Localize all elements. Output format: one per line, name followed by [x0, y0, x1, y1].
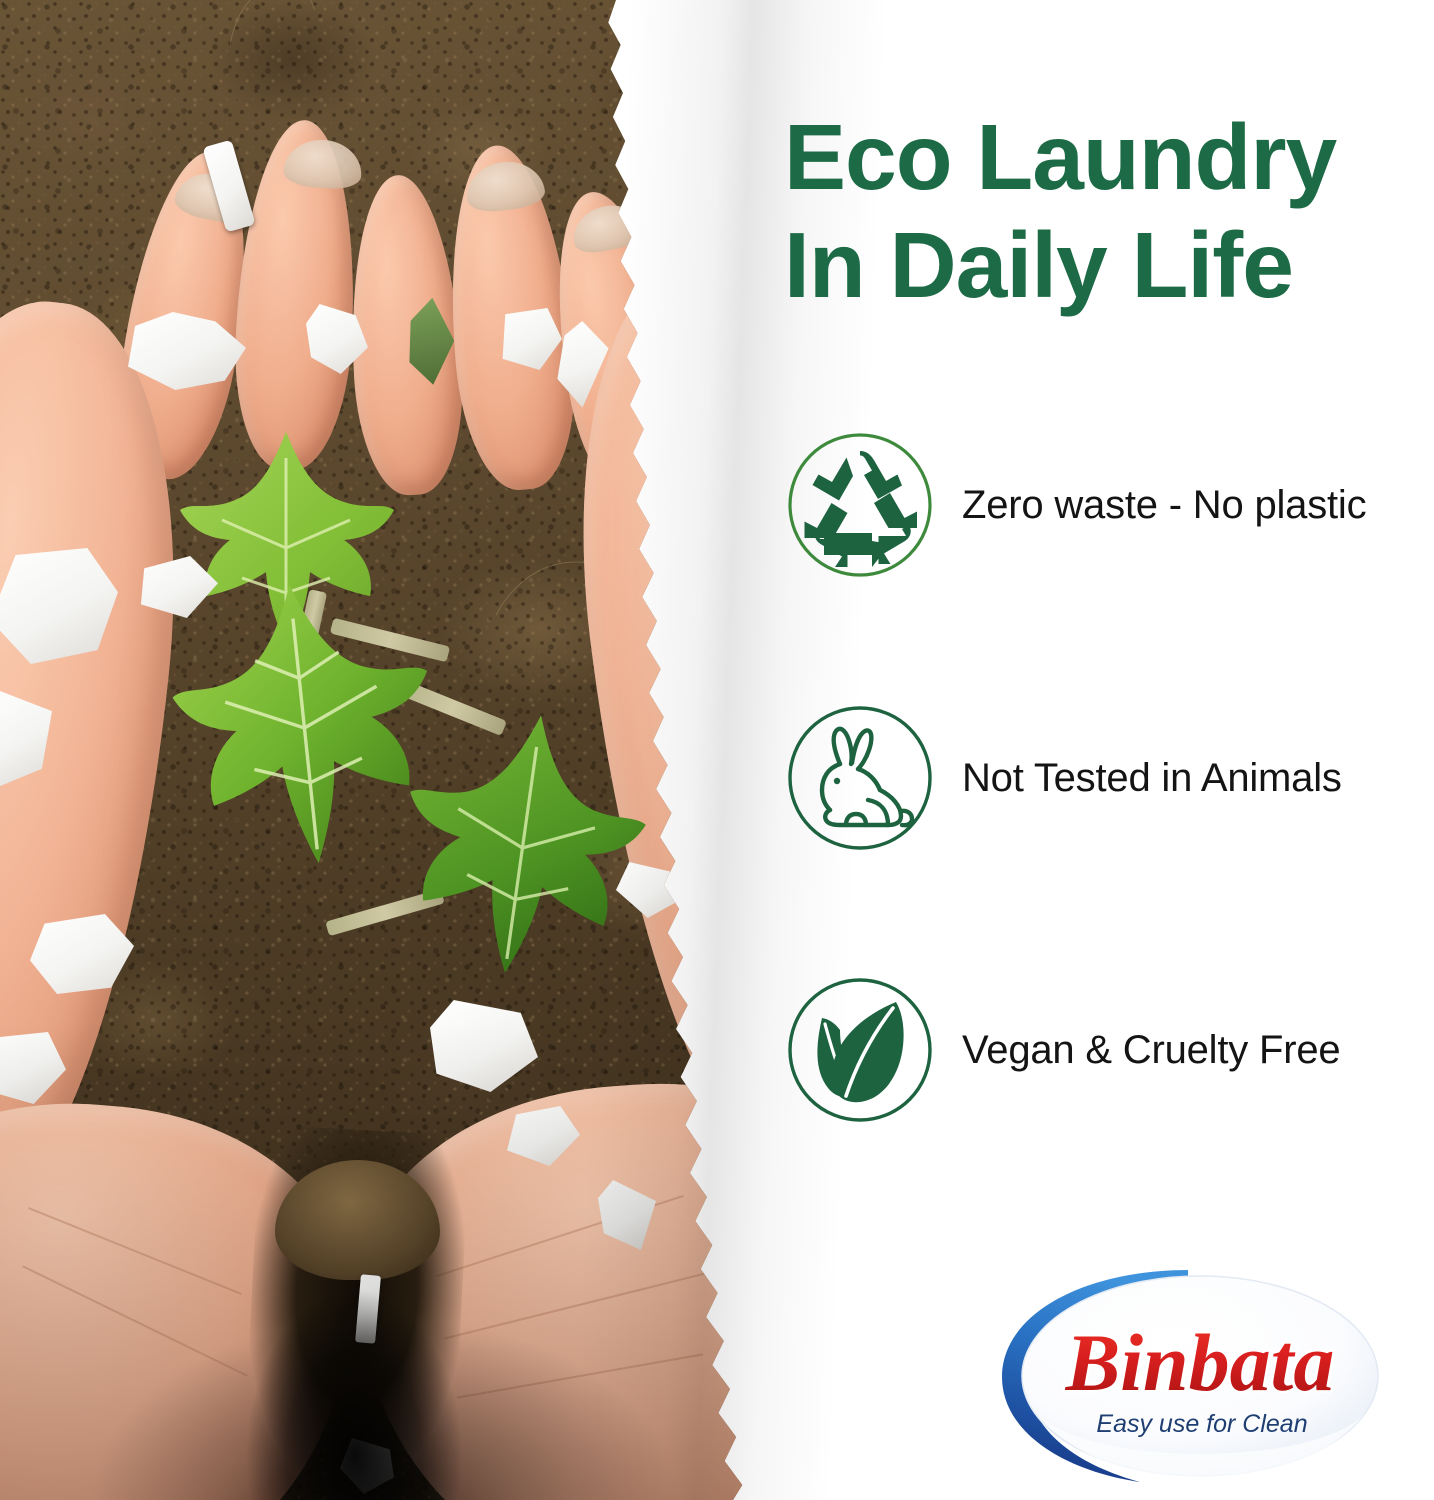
feature-label: Zero waste - No plastic — [962, 483, 1366, 528]
leaf-icon — [784, 974, 936, 1126]
feature-row-zero-waste: Zero waste - No plastic — [784, 425, 1432, 585]
page-title: Eco Laundry In Daily Life — [784, 104, 1424, 320]
feature-label: Vegan & Cruelty Free — [962, 1028, 1340, 1073]
feature-row-not-tested: Not Tested in Animals — [784, 698, 1432, 858]
binbata-logo: Binbata Easy use for Clean — [988, 1262, 1408, 1492]
hands-soil-photo — [0, 0, 770, 1500]
content-panel: Eco Laundry In Daily Life — [770, 0, 1434, 1500]
feature-label: Not Tested in Animals — [962, 756, 1342, 801]
logo-brand-text: Binbata — [1065, 1317, 1335, 1408]
photo-vignette — [0, 0, 770, 1500]
logo-tagline-text: Easy use for Clean — [1096, 1410, 1307, 1438]
recycle-icon — [784, 429, 936, 581]
feature-row-vegan: Vegan & Cruelty Free — [784, 970, 1432, 1130]
rabbit-icon — [784, 702, 936, 854]
eco-laundry-poster: Eco Laundry In Daily Life — [0, 0, 1434, 1500]
